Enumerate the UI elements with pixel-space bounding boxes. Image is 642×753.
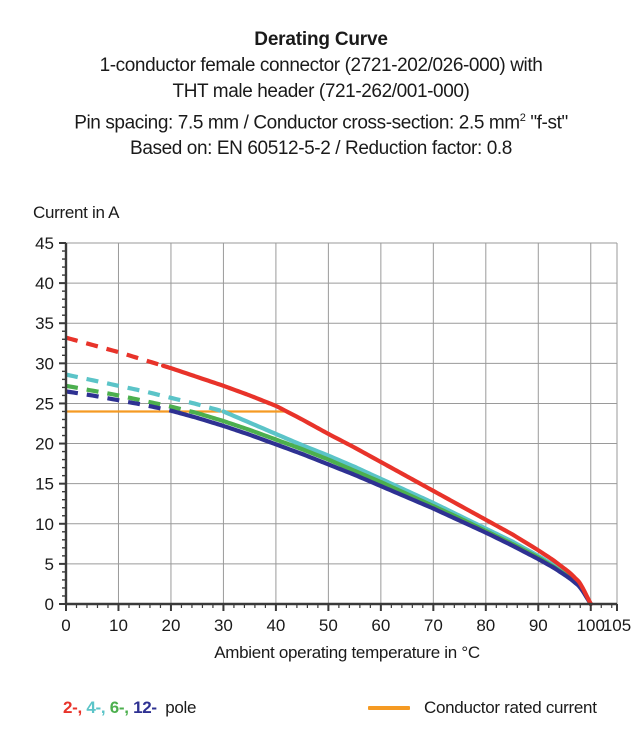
legend-rated-current: Conductor rated current [368,698,597,718]
x-tick-label: 20 [161,616,180,635]
x-tick-label: 100 [577,616,605,635]
legend-series-3: 12- [133,698,161,717]
x-tick-label: 0 [61,616,70,635]
y-tick-label: 35 [35,314,54,333]
derating-chart: 0510152025303540450102030405060708090100… [0,0,642,700]
y-tick-label: 10 [35,515,54,534]
x-tick-label: 50 [319,616,338,635]
series-solid-12-pole [176,412,591,604]
rated-current-swatch [368,706,410,710]
y-tick-label: 30 [35,354,54,373]
x-tick-label: 30 [214,616,233,635]
x-tick-label: 70 [424,616,443,635]
x-tick-label: 90 [529,616,548,635]
y-tick-label: 45 [35,234,54,253]
legend-pole-word: pole [161,698,196,717]
legend-pole-series: 2-, 4-, 6-, 12- pole [63,698,196,718]
y-tick-label: 0 [45,595,54,614]
y-tick-label: 15 [35,475,54,494]
x-tick-label: 105 [603,616,631,635]
y-tick-label: 25 [35,394,54,413]
legend-series-0: 2-, [63,698,86,717]
plot-area: 0510152025303540450102030405060708090100… [0,0,642,753]
derating-curve-page: Derating Curve 1-conductor female connec… [0,0,642,753]
series-solid-6-pole [192,412,591,604]
x-tick-label: 40 [266,616,285,635]
series-dashed-2-pole [66,338,163,366]
legend-series-1: 4-, [86,698,109,717]
x-tick-label: 60 [371,616,390,635]
x-tick-label: 80 [476,616,495,635]
y-tick-label: 40 [35,274,54,293]
chart-legend: 2-, 4-, 6-, 12- pole Conductor rated cur… [0,698,642,728]
y-tick-label: 20 [35,435,54,454]
x-axis-title: Ambient operating temperature in °C [0,643,642,663]
x-tick-label: 10 [109,616,128,635]
legend-series-2: 6-, [110,698,133,717]
y-tick-label: 5 [45,555,54,574]
rated-current-label: Conductor rated current [424,698,597,718]
